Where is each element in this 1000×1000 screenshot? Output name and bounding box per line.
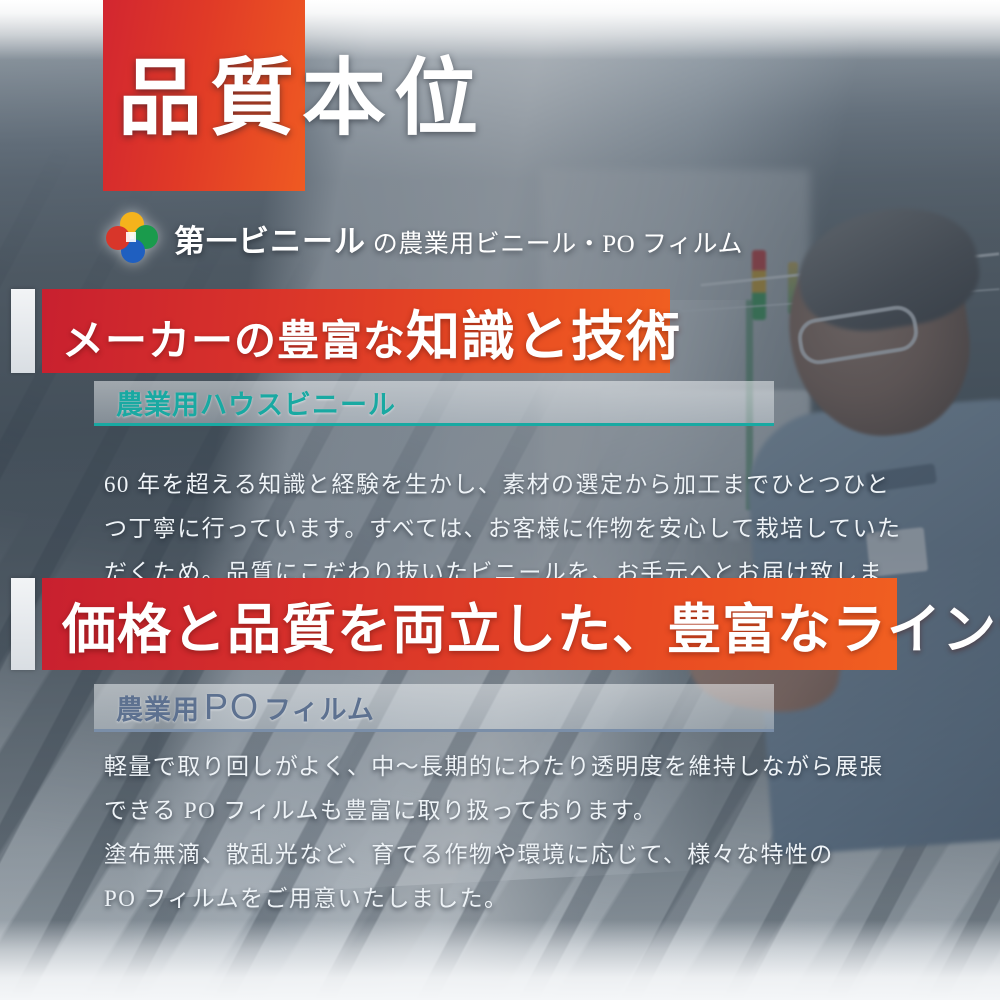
banner-1: メーカーの豊富な知識と技術 — [42, 289, 670, 373]
subheading-band-po: 農業用POフィルム — [94, 684, 774, 732]
banner-1-lead: メーカーの豊富な — [62, 319, 406, 365]
brand-name: 第一ビニール — [174, 224, 366, 259]
page-title: 品質本位 — [118, 58, 486, 142]
banner-2-accent-bar — [11, 578, 35, 670]
body-text-po-line: 塗布無滴、散乱光など、育てる作物や環境に応じて、様々な特性の — [104, 833, 894, 877]
brand-tagline: の農業用ビニール・PO フィルム — [366, 231, 743, 258]
banner-1-text: メーカーの豊富な知識と技術 — [42, 292, 681, 371]
banner-2: 価格と品質を両立した、豊富なラインナップ — [42, 578, 897, 670]
brand-row: 第一ビニール の農業用ビニール・PO フィルム — [104, 210, 743, 266]
dainichi-flower-logo-icon — [104, 210, 160, 266]
subheading-po: 農業用POフィルム — [116, 686, 375, 728]
subheading-po-post: フィルム — [264, 688, 375, 727]
body-text-po-line: 軽量で取り回しがよく、中〜長期的にわたり透明度を維持しながら展張 — [104, 745, 894, 789]
brand-line: 第一ビニール の農業用ビニール・PO フィルム — [174, 216, 743, 261]
banner-1-accent-bar — [11, 289, 35, 373]
subheading-band-vinyl: 農業用ハウスビニール — [94, 381, 774, 426]
banner-1-emphasis: 知識と技術 — [406, 307, 681, 367]
subheading-po-pre: 農業用 — [116, 688, 200, 727]
subheading-po-label: PO — [204, 686, 260, 728]
content-layer: 品質本位 第一ビニール の農業用ビニール・PO フィルム — [0, 0, 1000, 1000]
subheading-vinyl: 農業用ハウスビニール — [116, 383, 396, 422]
banner-2-text: 価格と品質を両立した、豊富なラインナップ — [42, 585, 1000, 664]
promo-banner-stage: 品質本位 第一ビニール の農業用ビニール・PO フィルム — [0, 0, 1000, 1000]
body-text-po-line: できる PO フィルムも豊富に取り扱っております。 — [104, 789, 894, 833]
body-text-po-line: PO フィルムをご用意いたしました。 — [104, 877, 894, 921]
body-text-po: 軽量で取り回しがよく、中〜長期的にわたり透明度を維持しながら展張 できる PO … — [104, 745, 894, 921]
